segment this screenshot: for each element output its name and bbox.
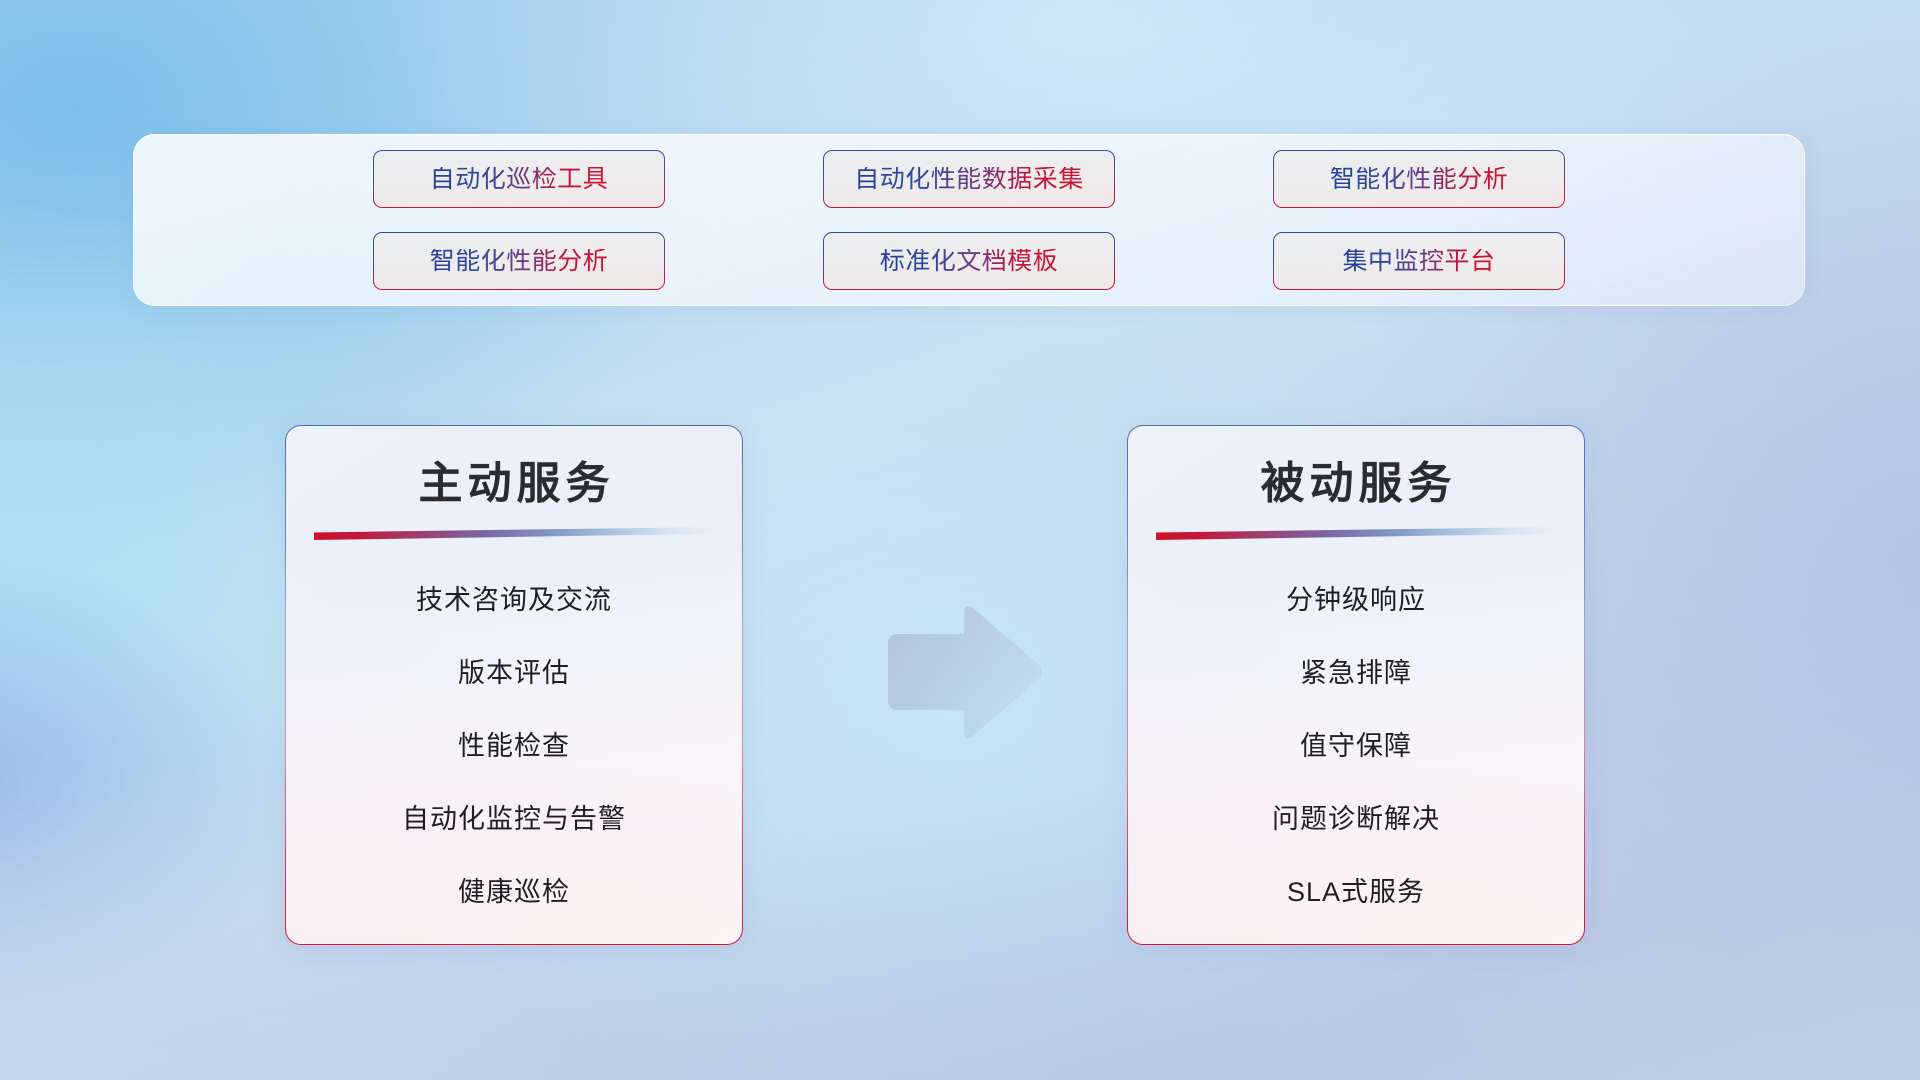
service-card-reactive[interactable]: 被动服务 分钟级响应 紧急排障 值守保障 问题诊断解决 SLA式服务	[1127, 425, 1585, 945]
service-list-item[interactable]: 健康巡检	[458, 865, 570, 920]
capability-pill-label: 智能化性能分析	[430, 249, 609, 274]
service-list-item[interactable]: 分钟级响应	[1286, 573, 1426, 628]
service-card-proactive[interactable]: 主动服务 技术咨询及交流 版本评估 性能检查 自动化监控与告警 健康巡检	[285, 425, 743, 945]
capability-pill[interactable]: 自动化性能数据采集	[823, 150, 1115, 208]
card-divider	[1156, 527, 1556, 540]
capability-panel: 自动化巡检工具 自动化性能数据采集 智能化性能分析 智能化性能分析 标准化文档模…	[133, 134, 1805, 306]
capability-pill-label: 集中监控平台	[1342, 249, 1495, 274]
service-list-item[interactable]: 紧急排障	[1300, 646, 1412, 701]
capability-pill-grid: 自动化巡检工具 自动化性能数据采集 智能化性能分析 智能化性能分析 标准化文档模…	[373, 150, 1565, 290]
capability-pill-label: 智能化性能分析	[1330, 167, 1509, 192]
service-list-item[interactable]: SLA式服务	[1287, 865, 1425, 920]
card-title: 主动服务	[414, 456, 615, 511]
service-list-item[interactable]: 值守保障	[1300, 719, 1412, 774]
service-item-list: 技术咨询及交流 版本评估 性能检查 自动化监控与告警 健康巡检	[286, 564, 742, 929]
capability-pill[interactable]: 集中监控平台	[1273, 232, 1565, 290]
service-list-item[interactable]: 版本评估	[458, 646, 570, 701]
service-list-item[interactable]: 技术咨询及交流	[416, 573, 612, 628]
capability-pill[interactable]: 智能化性能分析	[373, 232, 665, 290]
service-list-item[interactable]: 问题诊断解决	[1272, 792, 1440, 847]
capability-pill-label: 自动化巡检工具	[430, 167, 609, 192]
capability-pill[interactable]: 标准化文档模板	[823, 232, 1115, 290]
arrow-right-icon	[878, 600, 1044, 744]
slide-canvas: 自动化巡检工具 自动化性能数据采集 智能化性能分析 智能化性能分析 标准化文档模…	[0, 0, 1920, 1080]
card-divider	[314, 527, 714, 540]
service-list-item[interactable]: 性能检查	[458, 719, 570, 774]
service-item-list: 分钟级响应 紧急排障 值守保障 问题诊断解决 SLA式服务	[1128, 564, 1584, 929]
service-list-item[interactable]: 自动化监控与告警	[402, 792, 626, 847]
capability-pill[interactable]: 自动化巡检工具	[373, 150, 665, 208]
capability-pill-label: 标准化文档模板	[880, 249, 1059, 274]
capability-pill[interactable]: 智能化性能分析	[1273, 150, 1565, 208]
card-title: 被动服务	[1256, 456, 1457, 511]
capability-pill-label: 自动化性能数据采集	[854, 167, 1084, 192]
